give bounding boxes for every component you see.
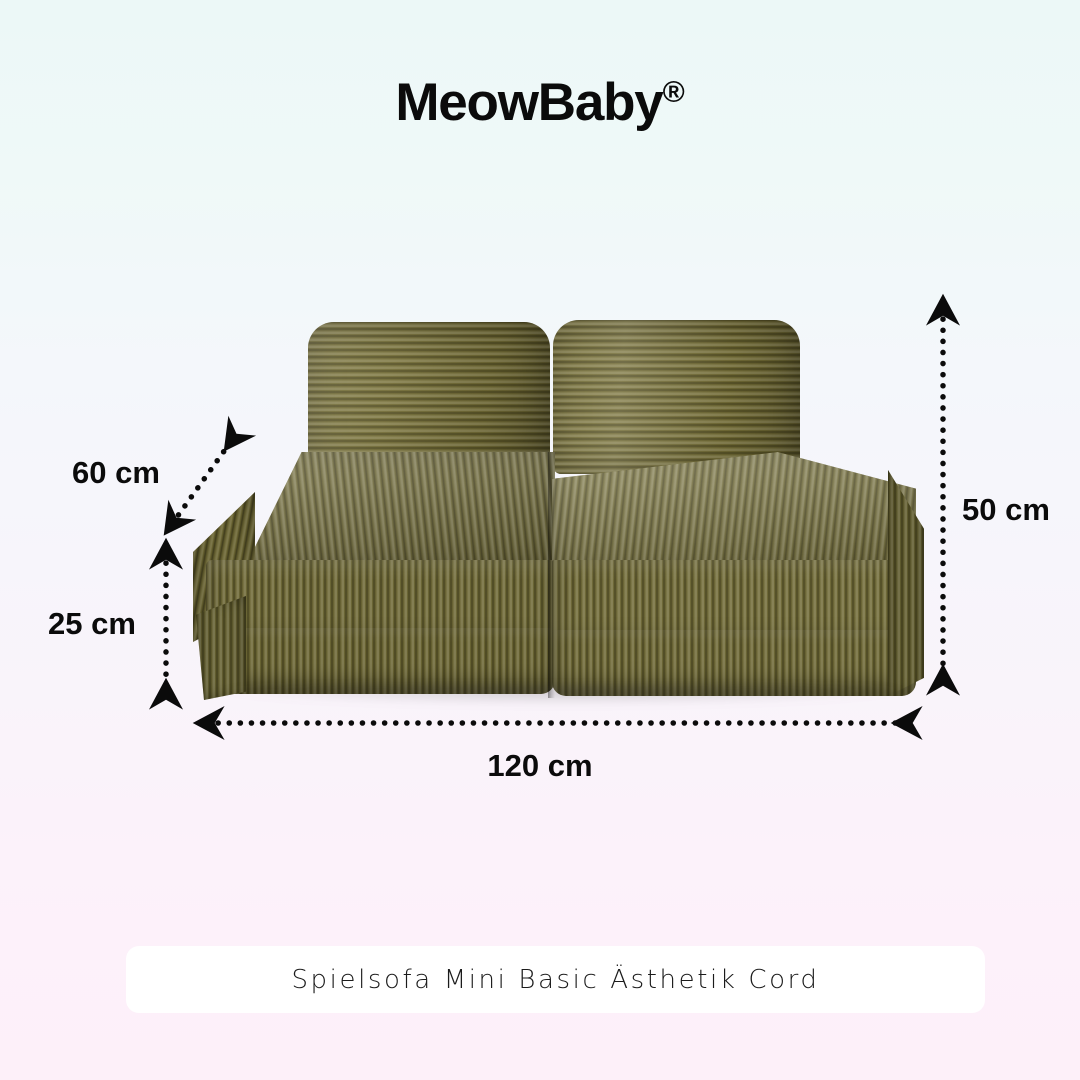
dimension-label-seat-height: 25 cm	[48, 606, 136, 642]
dimension-label-total-height: 50 cm	[962, 492, 1050, 528]
dimension-arrow-depth	[172, 440, 232, 524]
dimension-arrows-layer	[0, 0, 1080, 1080]
dimension-label-width: 120 cm	[0, 748, 1080, 784]
product-caption: Spielsofa Mini Basic Ästhetik Cord	[291, 965, 819, 995]
product-image-canvas: MeowBaby®	[0, 0, 1080, 1080]
dimension-label-depth: 60 cm	[72, 455, 160, 491]
caption-banner: Spielsofa Mini Basic Ästhetik Cord	[126, 946, 985, 1013]
